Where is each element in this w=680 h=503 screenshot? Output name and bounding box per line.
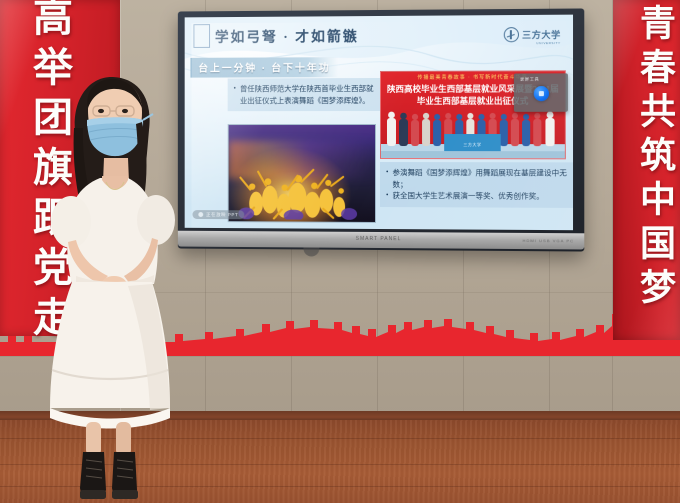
slide-status-pill[interactable]: 正在放映 PPT [192,210,244,219]
bullet-text: 曾任陕西师范大学在陕西首毕业生西部就业出征仪式上表演舞蹈《国梦添辉煌》。 [240,83,380,106]
screen-record-panel-title: 录屏工具 [520,76,540,82]
university-logo: 三方大学 [504,27,561,42]
dance-performance-photo [228,124,376,223]
play-icon [198,212,203,217]
screen-record-panel[interactable]: 录屏工具 [514,73,568,112]
wall-banner-right: 青春共筑中国梦 [613,0,680,340]
slide-right-bullets: • 参演舞蹈《国梦添辉煌》用舞蹈展现在基层建设中无数； • 获全国大学生艺术展演… [380,162,573,208]
classroom-presentation-scene: 高举团旗跟党走 青春共筑中国梦 学如弓弩 · 才如箭镞 台上一分钟 · 台下十年… [0,0,680,503]
list-item: • 参演舞蹈《国梦添辉煌》用舞蹈展现在基层建设中无数； [386,167,570,191]
bullet-text: 获全国大学生艺术展演一等奖、优秀创作奖。 [392,190,543,202]
interactive-smart-display[interactable]: 学如弓弩 · 才如箭镞 台上一分钟 · 台下十年功 三方大学 UNIVERSIT… [178,8,584,251]
list-item: • 获全国大学生艺术展演一等奖、优秀创作奖。 [386,190,570,202]
university-flag-text: 三方大学 [463,142,481,148]
university-crest-icon [504,27,519,42]
list-item: • 曾任陕西师范大学在陕西首毕业生西部就业出征仪式上表演舞蹈《国梦添辉煌》。 [234,83,380,106]
wall-banner-right-text: 青春共筑中国梦 [629,4,680,312]
bullet-text: 参演舞蹈《国梦添辉煌》用舞蹈展现在基层建设中无数； [392,167,570,191]
bullet-dot-icon: • [386,190,388,201]
display-brand-label: SMART PANEL [356,236,402,242]
slide-title: 学如弓弩 · 才如箭镞 [215,26,359,47]
bullet-dot-icon: • [234,83,236,94]
slide-left-bullets: • 曾任陕西师范大学在陕西首毕业生西部就业出征仪式上表演舞蹈《国梦添辉煌》。 [228,78,386,111]
presentation-slide: 学如弓弩 · 才如箭镞 台上一分钟 · 台下十年功 三方大学 UNIVERSIT… [185,15,573,231]
slide-title-marker [193,24,210,48]
display-ports-label: HDMI USB VGA PC [522,238,574,243]
slide-status-text: 正在放映 PPT [206,212,238,218]
slide-subtitle-bar: 台上一分钟 · 台下十年功 [191,57,339,77]
presenter [28,70,188,503]
bullet-dot-icon: • [386,167,388,178]
record-button[interactable] [533,86,548,101]
display-screen[interactable]: 学如弓弩 · 才如箭镞 台上一分钟 · 台下十年功 三方大学 UNIVERSIT… [185,15,573,231]
university-logo-name: 三方大学 [522,28,561,41]
university-logo-sub: UNIVERSITY [536,41,560,45]
display-bottom-bezel: SMART PANEL HDMI USB VGA PC [178,231,584,250]
